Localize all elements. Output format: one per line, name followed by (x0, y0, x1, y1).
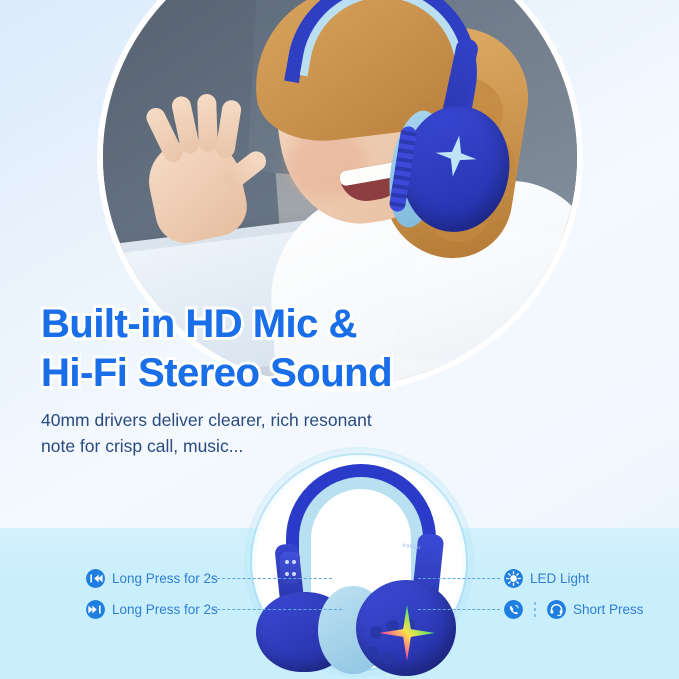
headset-icon (547, 600, 566, 619)
rgb-star-glow-icon (378, 604, 436, 662)
icon-divider (534, 602, 536, 618)
star-logo-icon (430, 130, 483, 183)
connector-line (212, 578, 332, 579)
callout-next-track[interactable]: Long Press for 2s (86, 600, 218, 619)
slider-dot (292, 560, 296, 564)
product-headphones: eakuu (252, 452, 472, 677)
connector-line (212, 609, 342, 610)
callout-label: Short Press (573, 602, 644, 617)
slider-dot (285, 560, 289, 564)
headline-line-1-fill: Built-in HD Mic & (41, 300, 471, 349)
callout-label: LED Light (530, 571, 589, 586)
callout-led-light[interactable]: LED Light (504, 569, 589, 588)
connector-line (418, 609, 500, 610)
slider-dot (292, 572, 296, 576)
callout-label: Long Press for 2s (112, 571, 218, 586)
brightness-sun-icon (504, 569, 523, 588)
previous-track-icon (86, 569, 105, 588)
slider-dot (285, 572, 289, 576)
headline-line-2-fill: Hi-Fi Stereo Sound (41, 349, 471, 398)
product-marketing-image: Built-in HD Mic & Hi-Fi Stereo Sound Bui… (0, 0, 679, 679)
next-track-icon (86, 600, 105, 619)
girl-finger (197, 94, 218, 153)
callout-label: Long Press for 2s (112, 602, 218, 617)
phone-call-icon (504, 600, 523, 619)
headphone-slider (280, 552, 300, 584)
subtitle-line-1: 40mm drivers deliver clearer, rich reson… (41, 408, 441, 434)
callout-previous-track[interactable]: Long Press for 2s (86, 569, 218, 588)
callout-short-press[interactable]: Short Press (504, 600, 644, 619)
connector-line (418, 578, 500, 579)
headline: Built-in HD Mic & Hi-Fi Stereo Sound (41, 300, 471, 398)
